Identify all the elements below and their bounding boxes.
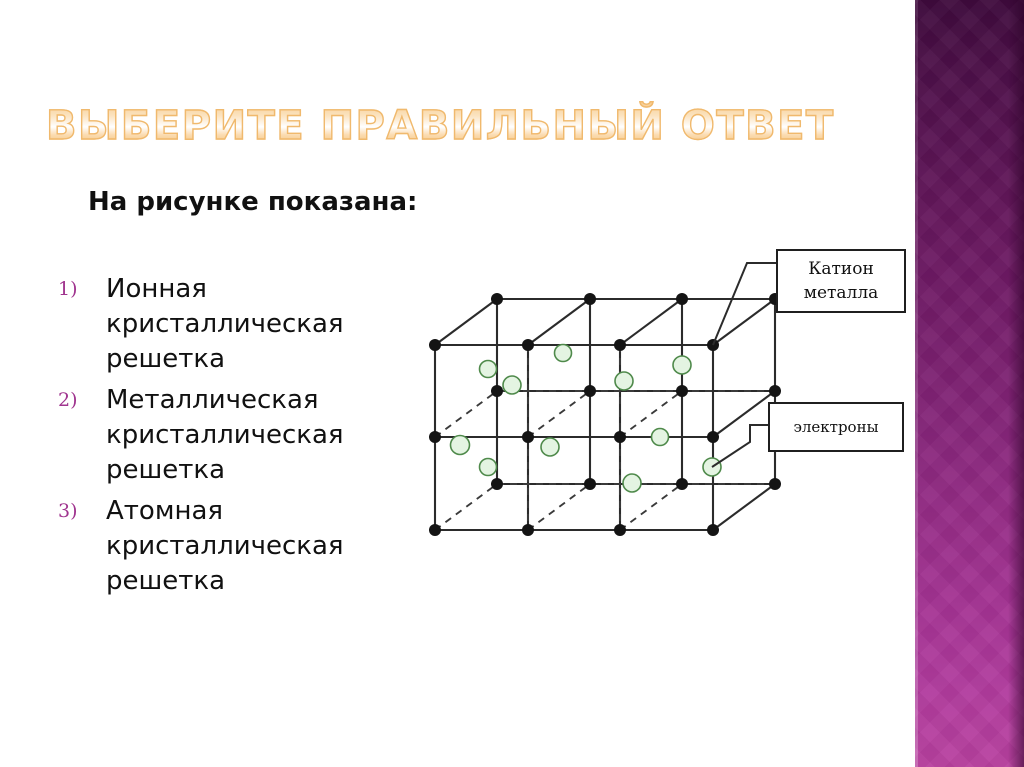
callout-label-electrons: электроны bbox=[773, 408, 899, 446]
cation-nodes bbox=[429, 293, 781, 536]
electron-icon bbox=[623, 474, 641, 492]
callout-label-cation: Катион металла bbox=[782, 255, 900, 307]
answer-marker-1: 1) bbox=[52, 272, 106, 307]
electron-icon bbox=[503, 376, 521, 394]
answer-option-1[interactable]: 1) Ионная кристаллическая решетка bbox=[52, 272, 452, 377]
answer-option-3[interactable]: 3) Атомная кристаллическая решетка bbox=[52, 494, 452, 599]
lattice-solid-edges bbox=[435, 299, 775, 530]
electron-markers bbox=[451, 345, 722, 493]
band-right-shadow bbox=[1008, 0, 1024, 767]
crystal-lattice-figure: Катион металла электроны bbox=[420, 245, 920, 555]
slide-root: Выберите правильный ответ На рисунке пок… bbox=[0, 0, 1024, 767]
answer-label-2: Металлическая кристаллическая решетка bbox=[106, 383, 452, 488]
answer-options-list: 1) Ионная кристаллическая решетка 2) Мет… bbox=[52, 272, 452, 605]
electron-icon bbox=[451, 436, 470, 455]
answer-option-2[interactable]: 2) Металлическая кристаллическая решетка bbox=[52, 383, 452, 488]
electron-icon bbox=[615, 372, 633, 390]
page-title: Выберите правильный ответ bbox=[46, 100, 906, 156]
question-lead-text: На рисунке показана: bbox=[88, 186, 418, 219]
electron-icon bbox=[480, 361, 497, 378]
electron-icon bbox=[555, 345, 572, 362]
answer-marker-2: 2) bbox=[52, 383, 106, 418]
answer-marker-3: 3) bbox=[52, 494, 106, 529]
answer-label-3: Атомная кристаллическая решетка bbox=[106, 494, 452, 599]
answer-label-1: Ионная кристаллическая решетка bbox=[106, 272, 452, 377]
electron-icon bbox=[652, 429, 669, 446]
electron-icon bbox=[541, 438, 559, 456]
decorative-purple-band bbox=[915, 0, 1024, 767]
electron-icon bbox=[673, 356, 691, 374]
electron-icon bbox=[480, 459, 497, 476]
